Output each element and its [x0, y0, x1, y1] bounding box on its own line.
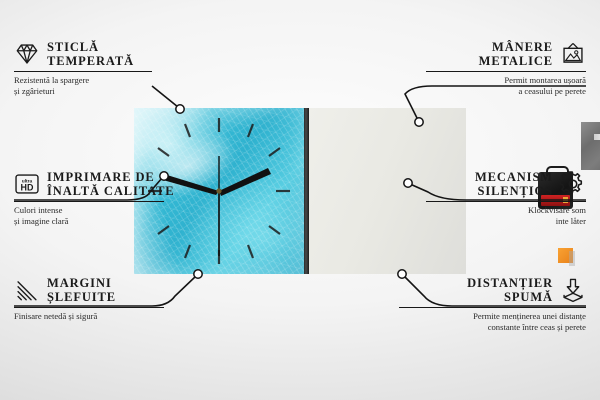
- callout-tempered-glass: STICLĂ TEMPERATĂ Rezistentă la spargere …: [14, 40, 229, 96]
- callout-description: Culori intense și imagine clară: [14, 205, 229, 226]
- gear-icon: [560, 171, 586, 197]
- callout-title: DISTANȚIER SPUMĂ: [467, 276, 553, 304]
- callout-description: Klockvisare som inte låter: [371, 205, 586, 226]
- foam-spacer-arrow-icon: [560, 277, 586, 303]
- leader-dot-glass: [176, 105, 184, 113]
- product-feature-infographic: STICLĂ TEMPERATĂ Rezistentă la spargere …: [0, 0, 600, 400]
- callout-rule: [426, 201, 586, 202]
- callout-foam-spacer: DISTANȚIER SPUMĂ Permite menținerea unei…: [371, 276, 586, 332]
- callout-title: MÂNERE METALICE: [479, 40, 553, 68]
- callout-polished-edges: MARGINI ȘLEFUITE Finisare netedă și sigu…: [14, 276, 229, 322]
- ultra-hd-icon: ultra HD: [14, 171, 40, 197]
- ultra-hd-icon-big-label: HD: [21, 183, 34, 193]
- callout-high-quality-print: ultra HD IMPRIMARE DE ÎNALTĂ CALITATE Cu…: [14, 170, 229, 226]
- picture-frame-hanger-icon: [560, 41, 586, 67]
- callout-description: Finisare netedă și sigură: [14, 311, 229, 322]
- callout-rule: [14, 307, 164, 308]
- callout-metal-handles: MÂNERE METALICE Permit montarea ușoară a…: [371, 40, 586, 96]
- callout-rule: [399, 307, 586, 308]
- callout-title: MARGINI ȘLEFUITE: [47, 276, 116, 304]
- callout-silent-mechanism: MECANISM SILENȚIOS Klockvisare som inte …: [371, 170, 586, 226]
- polished-edge-icon: [14, 277, 40, 303]
- callout-rule: [426, 71, 586, 72]
- callout-rule: [14, 201, 164, 202]
- callout-title: IMPRIMARE DE ÎNALTĂ CALITATE: [47, 170, 175, 198]
- callout-description: Permit montarea ușoară a ceasului pe per…: [371, 75, 586, 96]
- leader-dot-handles: [415, 118, 423, 126]
- callout-title: MECANISM SILENȚIOS: [475, 170, 553, 198]
- callout-description: Permite menținerea unei distanțe constan…: [371, 311, 586, 332]
- callout-rule: [14, 71, 152, 72]
- callout-title: STICLĂ TEMPERATĂ: [47, 40, 134, 68]
- diamond-icon: [14, 41, 40, 67]
- callout-description: Rezistentă la spargere și zgârieturi: [14, 75, 229, 96]
